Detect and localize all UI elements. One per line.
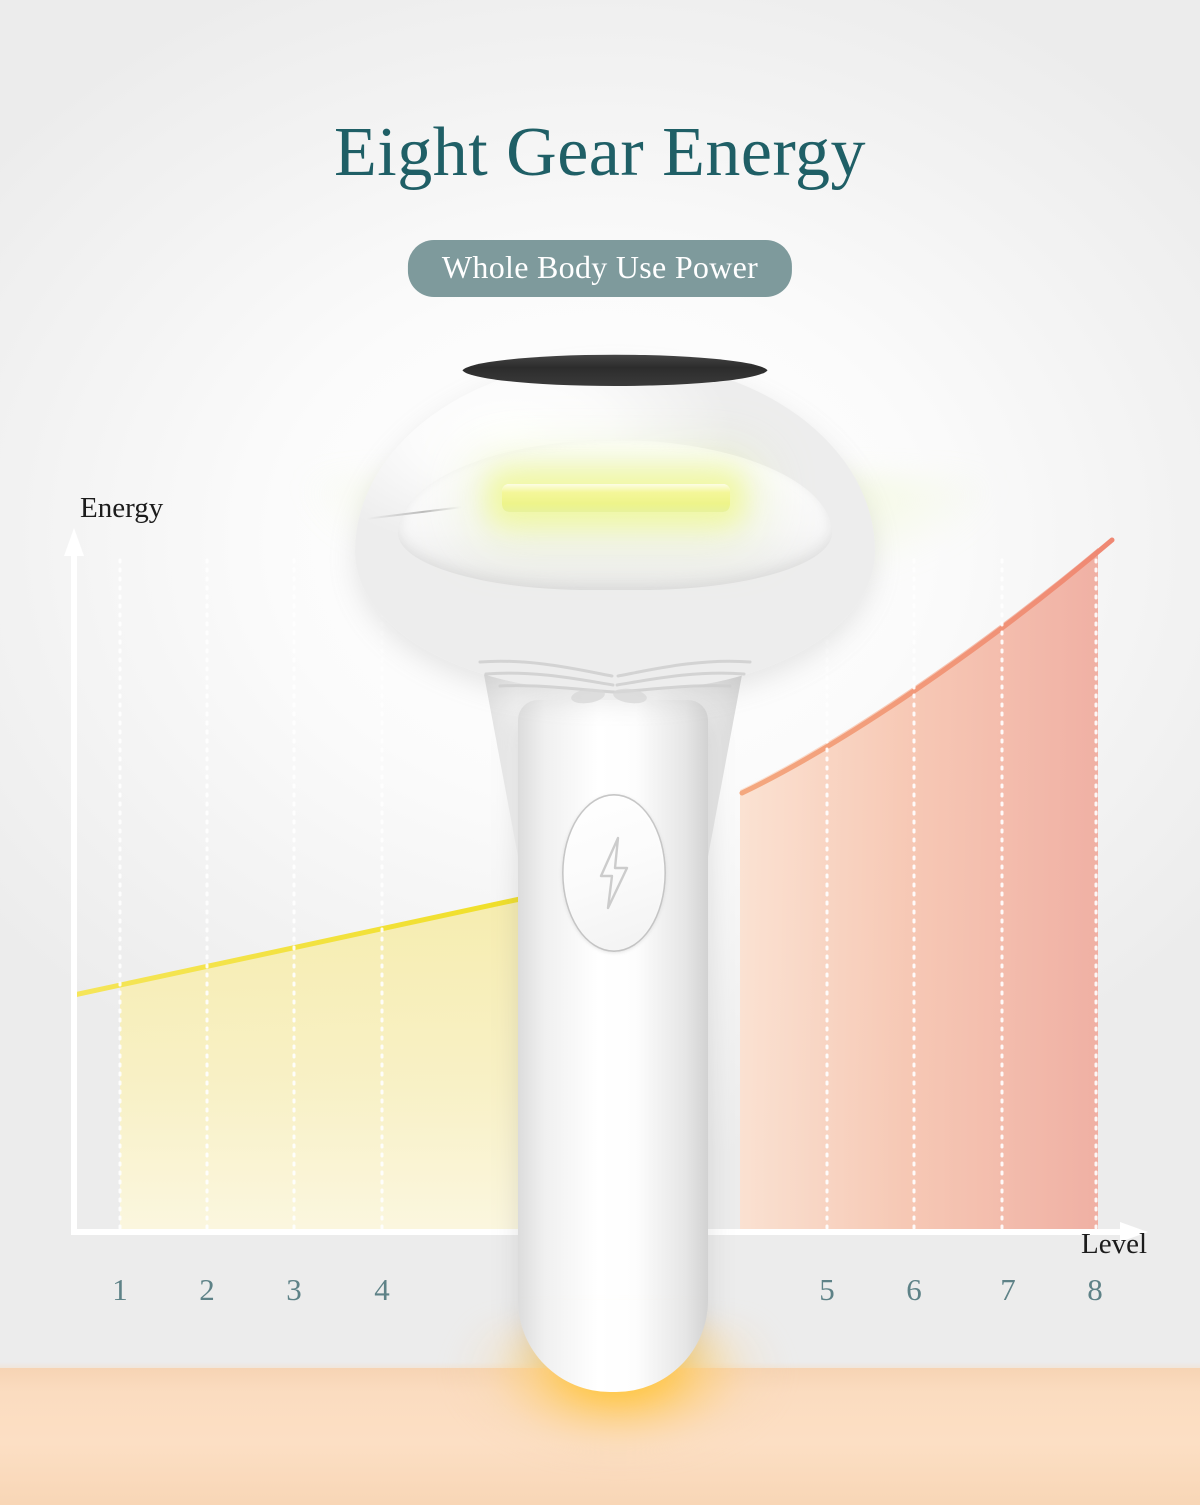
subtitle-badge: Whole Body Use Power [408,240,792,297]
wing-vent-grille-icon [470,630,760,710]
dark-top-cap-icon [462,352,768,386]
lightning-bolt-icon [593,836,635,910]
promo-banner: Energy Level 1 2 3 4 5 6 7 8 [0,0,1200,1505]
power-button[interactable] [562,794,666,952]
page-title: Eight Gear Energy [0,116,1200,190]
flash-lamp-window [502,484,730,512]
ipl-handset-photo [0,0,1200,1505]
